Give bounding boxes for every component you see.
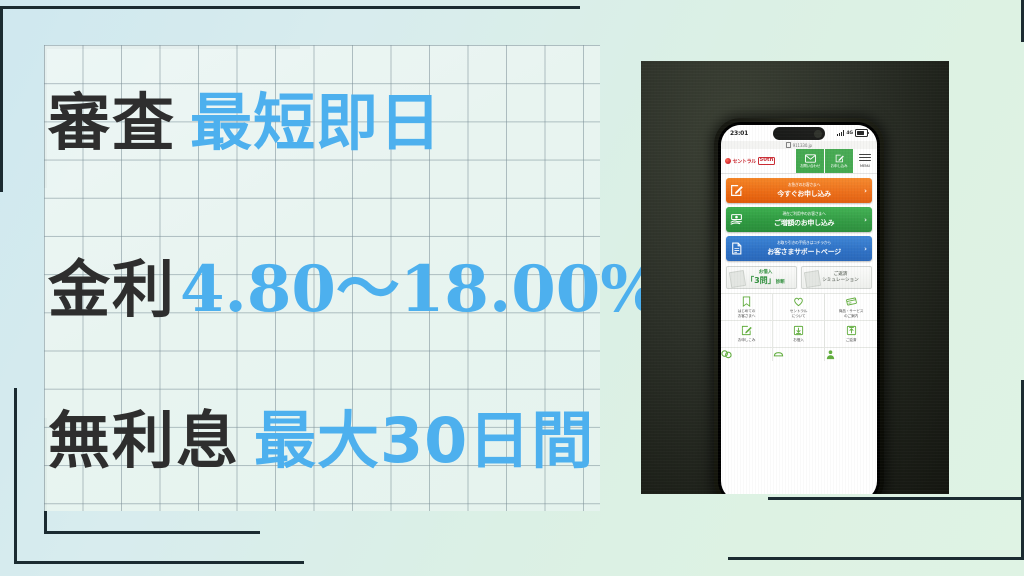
card-icon [846, 296, 857, 308]
tool-repayment-line2: シミュレーション [822, 278, 859, 283]
corner-bracket-top-right [908, 0, 1024, 42]
cta-increase-limit-main: ご増額のお申し込み [774, 218, 834, 228]
document-icon [730, 242, 743, 255]
header-button-apply[interactable]: お申し込み [824, 149, 853, 173]
tool-box-row: お借入 「3問」診断 ご返済 シミュレーション [721, 263, 877, 293]
grid-item-repay-label: ご返済 [846, 338, 856, 343]
grid-item-products-label: 商品・サービスのご案内 [839, 309, 863, 318]
grid-item-application-label: お申しこみ [738, 338, 755, 343]
pencil-square-icon [741, 325, 752, 337]
status-bar: 23:01 4G [721, 125, 877, 141]
tool-repayment-simulation[interactable]: ご返済 シミュレーション [801, 266, 872, 289]
highlight-label-1: 審査 [48, 92, 176, 154]
url-text: 911330.jp [793, 143, 812, 148]
logo-anniversary-badge: 50th [758, 157, 776, 165]
headline-group: 審査 最短即日 金利 4.80〜18.00% 無利息 最大30日間 [0, 0, 640, 576]
tool-loan-diagnosis[interactable]: お借入 「3問」診断 [726, 266, 797, 289]
grid-item-first-time[interactable]: はじめてのお客さまへ [721, 293, 773, 320]
phone-screen: 23:01 4G 911330.jp [721, 125, 877, 494]
highlight-value-2: 4.80〜18.00% [180, 258, 661, 322]
signal-bars-icon [837, 130, 845, 136]
hamburger-icon[interactable]: MENU [853, 149, 877, 173]
promo-banner: 審査 最短即日 金利 4.80〜18.00% 無利息 最大30日間 23:01 [0, 0, 1024, 576]
battery-icon [855, 129, 868, 137]
cta-increase-limit[interactable]: 現在ご利用中のお客さまへ ご増額のお申し込み › [726, 207, 872, 232]
icon-grid: はじめてのお客さまへ セントラルについて 商品・サービスのご案内 [721, 293, 877, 361]
highlight-value-3: 最大30日間 [254, 410, 594, 472]
cta-apply-now-sub: お急ぎのお客さまへ [788, 182, 820, 188]
highlight-row-3: 無利息 最大30日間 [48, 410, 594, 472]
highlight-value-1: 最短即日 [190, 92, 442, 154]
book-icon [741, 296, 752, 308]
cash-hand-icon [730, 213, 743, 226]
highlight-row-1: 審査 最短即日 [48, 92, 442, 154]
highlight-label-3: 無利息 [48, 410, 240, 472]
lock-icon [786, 142, 791, 148]
tool-loan-diagnosis-line2: 診断 [776, 280, 785, 285]
cta-apply-now-main: 今すぐお申し込み [777, 189, 831, 199]
cta-support-page-sub: お取り引きの手続きはコチラから [777, 240, 831, 246]
header-button-contact[interactable]: お問い合わせ [795, 149, 824, 173]
dynamic-island [773, 127, 825, 140]
grid-item-repay[interactable]: ご返済 [825, 320, 877, 347]
tool-loan-diagnosis-big: 「3問」 [746, 276, 776, 285]
car-icon [773, 349, 784, 361]
cta-apply-now[interactable]: お急ぎのお客さまへ 今すぐお申し込み › [726, 178, 872, 203]
pencil-square-icon [730, 184, 743, 197]
person-icon [825, 349, 836, 361]
highlight-label-2: 金利 [48, 259, 176, 321]
highlight-row-2: 金利 4.80〜18.00% [48, 258, 661, 322]
download-arrow-icon [793, 325, 804, 337]
grid-item-application[interactable]: お申しこみ [721, 320, 773, 347]
grid-item-borrow-label: お借入 [793, 338, 803, 343]
header-button-apply-label: お申し込み [831, 164, 848, 169]
chevron-right-icon: › [864, 187, 867, 195]
coins-icon [721, 349, 732, 361]
site-header: セントラル 50th お問い合わせ [721, 149, 877, 174]
status-icons: 4G [837, 129, 868, 137]
status-time: 23:01 [730, 130, 748, 137]
upload-arrow-icon [846, 325, 857, 337]
grid-item-about-central-label: セントラルについて [790, 309, 807, 318]
cta-increase-limit-sub: 現在ご利用中のお客さまへ [782, 211, 825, 217]
site-logo[interactable]: セントラル 50th [721, 149, 795, 173]
grid-item-products[interactable]: 商品・サービスのご案内 [825, 293, 877, 320]
grid-item-borrow[interactable]: お借入 [773, 320, 825, 347]
header-button-contact-label: お問い合わせ [800, 164, 820, 169]
chevron-right-icon: › [864, 245, 867, 253]
grid-item-about-central[interactable]: セントラルについて [773, 293, 825, 320]
cta-support-page[interactable]: お取り引きの手続きはコチラから お客さまサポートページ › [726, 236, 872, 261]
logo-text: セントラル [733, 158, 757, 165]
grid-item-partial-1[interactable] [721, 347, 773, 361]
cta-support-page-main: お客さまサポートページ [767, 247, 841, 257]
envelope-icon [805, 154, 816, 163]
phone-photo: 23:01 4G 911330.jp [641, 61, 949, 494]
phone-device: 23:01 4G 911330.jp [714, 118, 884, 494]
grid-item-partial-2[interactable] [773, 347, 825, 361]
cta-banner-list: お急ぎのお客さまへ 今すぐお申し込み › [721, 174, 877, 263]
chevron-right-icon: › [864, 216, 867, 224]
pencil-square-icon [834, 154, 845, 163]
network-label: 4G [846, 131, 853, 136]
menu-label: MENU [860, 164, 870, 168]
browser-url-bar[interactable]: 911330.jp [721, 141, 877, 149]
grid-item-partial-3[interactable] [825, 347, 877, 361]
central-swirl-icon [725, 158, 731, 164]
heart-icon [793, 296, 804, 308]
grid-item-first-time-label: はじめてのお客さまへ [738, 309, 755, 318]
